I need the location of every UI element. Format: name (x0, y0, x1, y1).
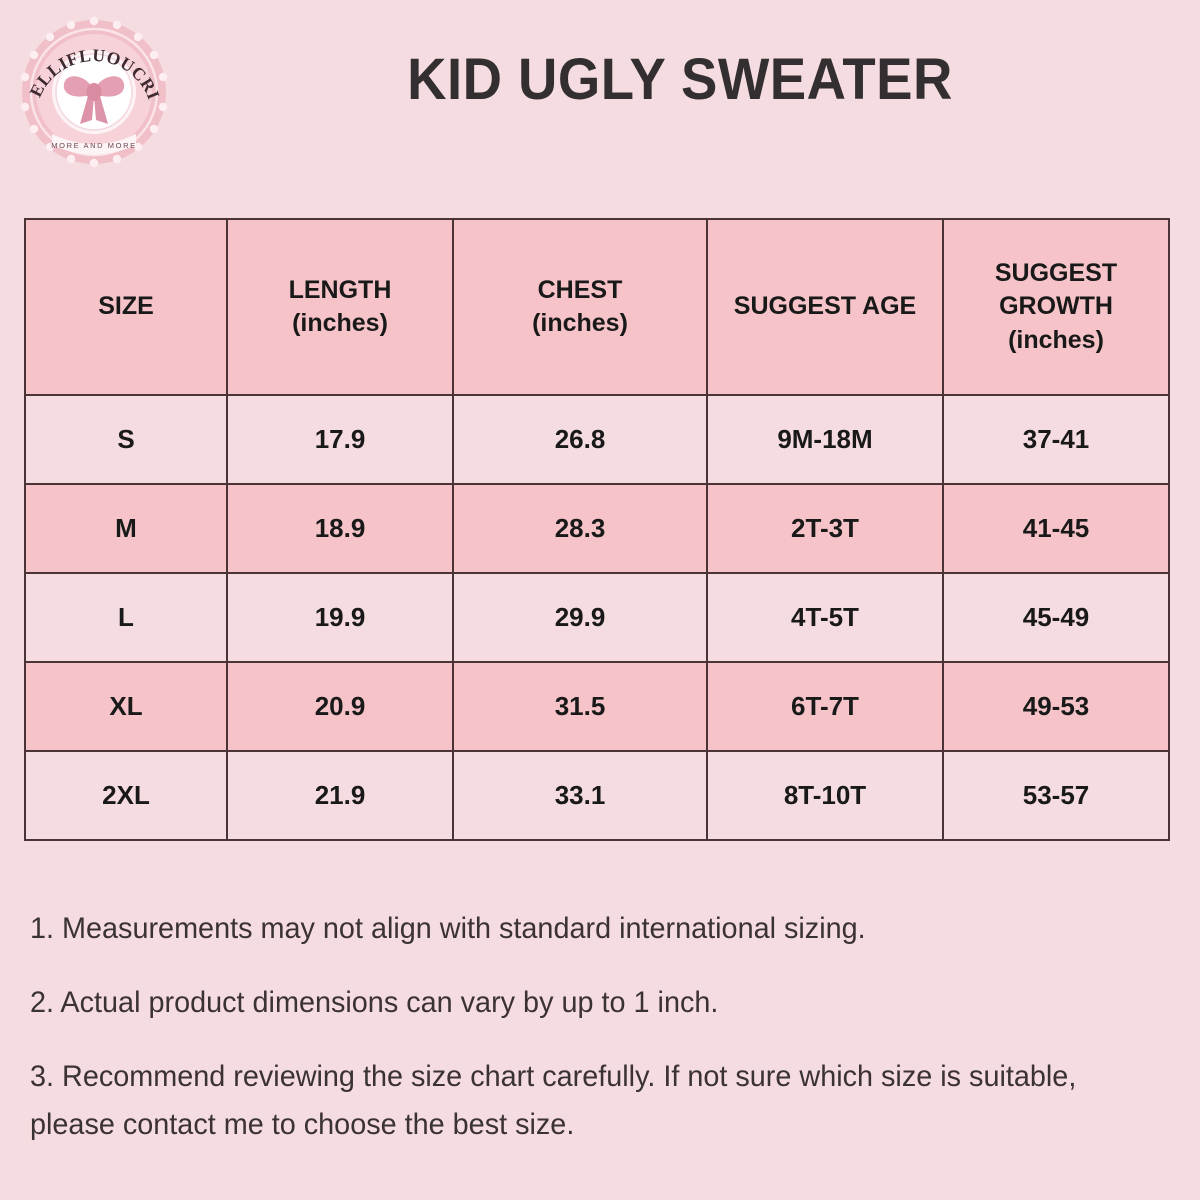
cell-size: M (25, 484, 227, 573)
table-row: L 19.9 29.9 4T-5T 45-49 (25, 573, 1169, 662)
table-header-row: SIZE LENGTH (inches) CHEST (inches) SUGG… (25, 219, 1169, 395)
cell-age: 2T-3T (707, 484, 943, 573)
column-header-chest-line1: CHEST (454, 274, 706, 307)
cell-length: 19.9 (227, 573, 453, 662)
notes-list: 1. Measurements may not align with stand… (30, 905, 1170, 1149)
column-header-growth-line2: GROWTH (944, 290, 1168, 323)
cell-chest: 28.3 (453, 484, 707, 573)
cell-chest: 31.5 (453, 662, 707, 751)
table-row: M 18.9 28.3 2T-3T 41-45 (25, 484, 1169, 573)
cell-growth: 41-45 (943, 484, 1169, 573)
cell-chest: 33.1 (453, 751, 707, 840)
cell-growth: 45-49 (943, 573, 1169, 662)
note-item: 1. Measurements may not align with stand… (30, 905, 1124, 953)
column-header-growth-line1: SUGGEST (944, 257, 1168, 290)
column-header-size-line1: SIZE (26, 290, 226, 323)
page-title: KID UGLY SWEATER (210, 46, 1150, 113)
cell-length: 21.9 (227, 751, 453, 840)
cell-length: 20.9 (227, 662, 453, 751)
cell-size: S (25, 395, 227, 484)
column-header-growth: SUGGEST GROWTH (inches) (943, 219, 1169, 395)
cell-size: 2XL (25, 751, 227, 840)
table-row: XL 20.9 31.5 6T-7T 49-53 (25, 662, 1169, 751)
cell-growth: 53-57 (943, 751, 1169, 840)
column-header-length-line2: (inches) (228, 307, 452, 340)
table-row: S 17.9 26.8 9M-18M 37-41 (25, 395, 1169, 484)
column-header-size: SIZE (25, 219, 227, 395)
cell-chest: 26.8 (453, 395, 707, 484)
size-chart-table: SIZE LENGTH (inches) CHEST (inches) SUGG… (24, 218, 1170, 841)
note-item: 3. Recommend reviewing the size chart ca… (30, 1053, 1124, 1149)
note-item: 2. Actual product dimensions can vary by… (30, 979, 1124, 1027)
brand-logo: MORE AND MORE MELLIFLUOUCRIK (14, 12, 174, 172)
column-header-age-line1: SUGGEST AGE (708, 290, 942, 323)
cell-length: 17.9 (227, 395, 453, 484)
cell-growth: 37-41 (943, 395, 1169, 484)
cell-age: 6T-7T (707, 662, 943, 751)
table-row: 2XL 21.9 33.1 8T-10T 53-57 (25, 751, 1169, 840)
cell-size: L (25, 573, 227, 662)
column-header-chest: CHEST (inches) (453, 219, 707, 395)
cell-length: 18.9 (227, 484, 453, 573)
column-header-age: SUGGEST AGE (707, 219, 943, 395)
cell-age: 8T-10T (707, 751, 943, 840)
cell-age: 4T-5T (707, 573, 943, 662)
column-header-chest-line2: (inches) (454, 307, 706, 340)
column-header-growth-line3: (inches) (944, 324, 1168, 357)
logo-ribbon-text: MORE AND MORE (51, 141, 136, 150)
column-header-length: LENGTH (inches) (227, 219, 453, 395)
cell-age: 9M-18M (707, 395, 943, 484)
cell-size: XL (25, 662, 227, 751)
cell-growth: 49-53 (943, 662, 1169, 751)
column-header-length-line1: LENGTH (228, 274, 452, 307)
cell-chest: 29.9 (453, 573, 707, 662)
